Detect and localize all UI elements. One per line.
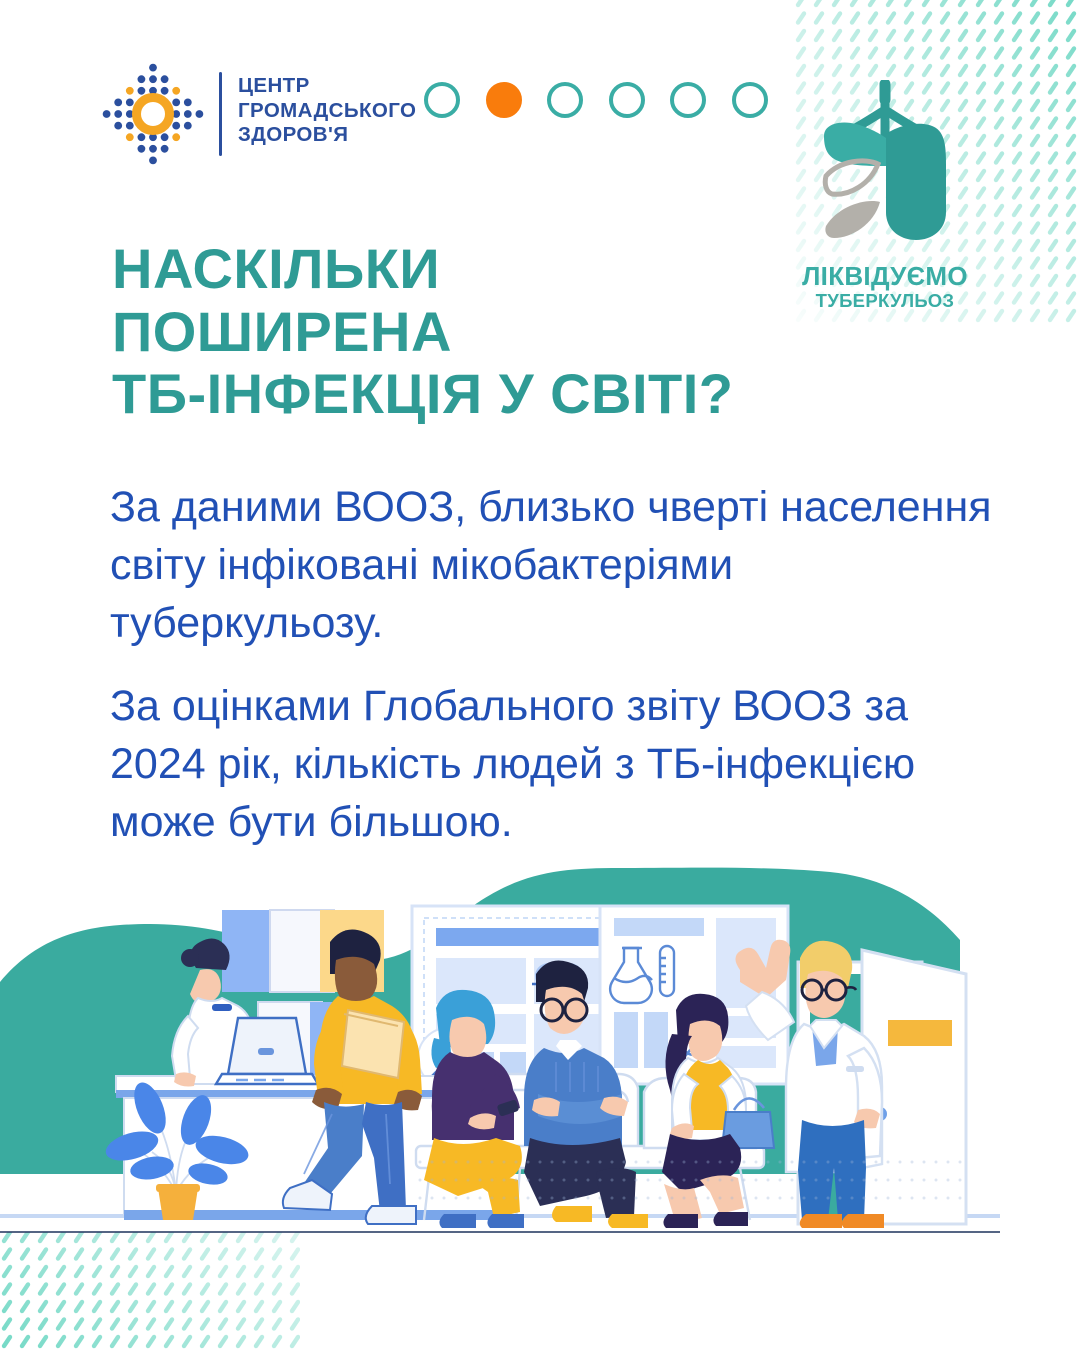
door-sign (888, 1020, 952, 1046)
clinic-waiting-room-illustration (0, 862, 1000, 1240)
page-title-line2: ПОШИРЕНА (112, 301, 872, 364)
page-title-line1: НАСКІЛЬКИ (112, 238, 872, 301)
pagination-dot-6[interactable] (732, 82, 768, 118)
pagination-dots[interactable] (424, 82, 768, 118)
body-paragraph-1: За даними ВООЗ, близько чверті населення… (110, 478, 1010, 652)
body-copy: За даними ВООЗ, близько чверті населення… (110, 478, 1010, 876)
logo-divider (219, 72, 222, 156)
org-name-line3: ЗДОРОВ'Я (238, 123, 416, 148)
cph-dot-diamond-logo-icon (101, 62, 205, 166)
pagination-dot-2[interactable] (486, 82, 522, 118)
org-name-line2: ГРОМАДСЬКОГО (238, 99, 416, 124)
pagination-dot-4[interactable] (609, 82, 645, 118)
page-title: НАСКІЛЬКИ ПОШИРЕНА ТБ-ІНФЕКЦІЯ У СВІТІ? (112, 238, 872, 426)
organization-wordmark: ЦЕНТР ГРОМАДСЬКОГО ЗДОРОВ'Я (238, 74, 416, 148)
pagination-dot-1[interactable] (424, 82, 460, 118)
pagination-dot-3[interactable] (547, 82, 583, 118)
lungs-leaf-logo-icon (812, 80, 960, 260)
body-paragraph-2: За оцінками Глобального звіту ВООЗ за 20… (110, 677, 1010, 851)
page-title-line3: ТБ-ІНФЕКЦІЯ У СВІТІ? (112, 363, 872, 426)
page-header: ЦЕНТР ГРОМАДСЬКОГО ЗДОРОВ'Я ЛІКВІДУЄМО Т… (0, 0, 1080, 190)
pagination-dot-5[interactable] (670, 82, 706, 118)
org-name-line1: ЦЕНТР (238, 74, 416, 99)
